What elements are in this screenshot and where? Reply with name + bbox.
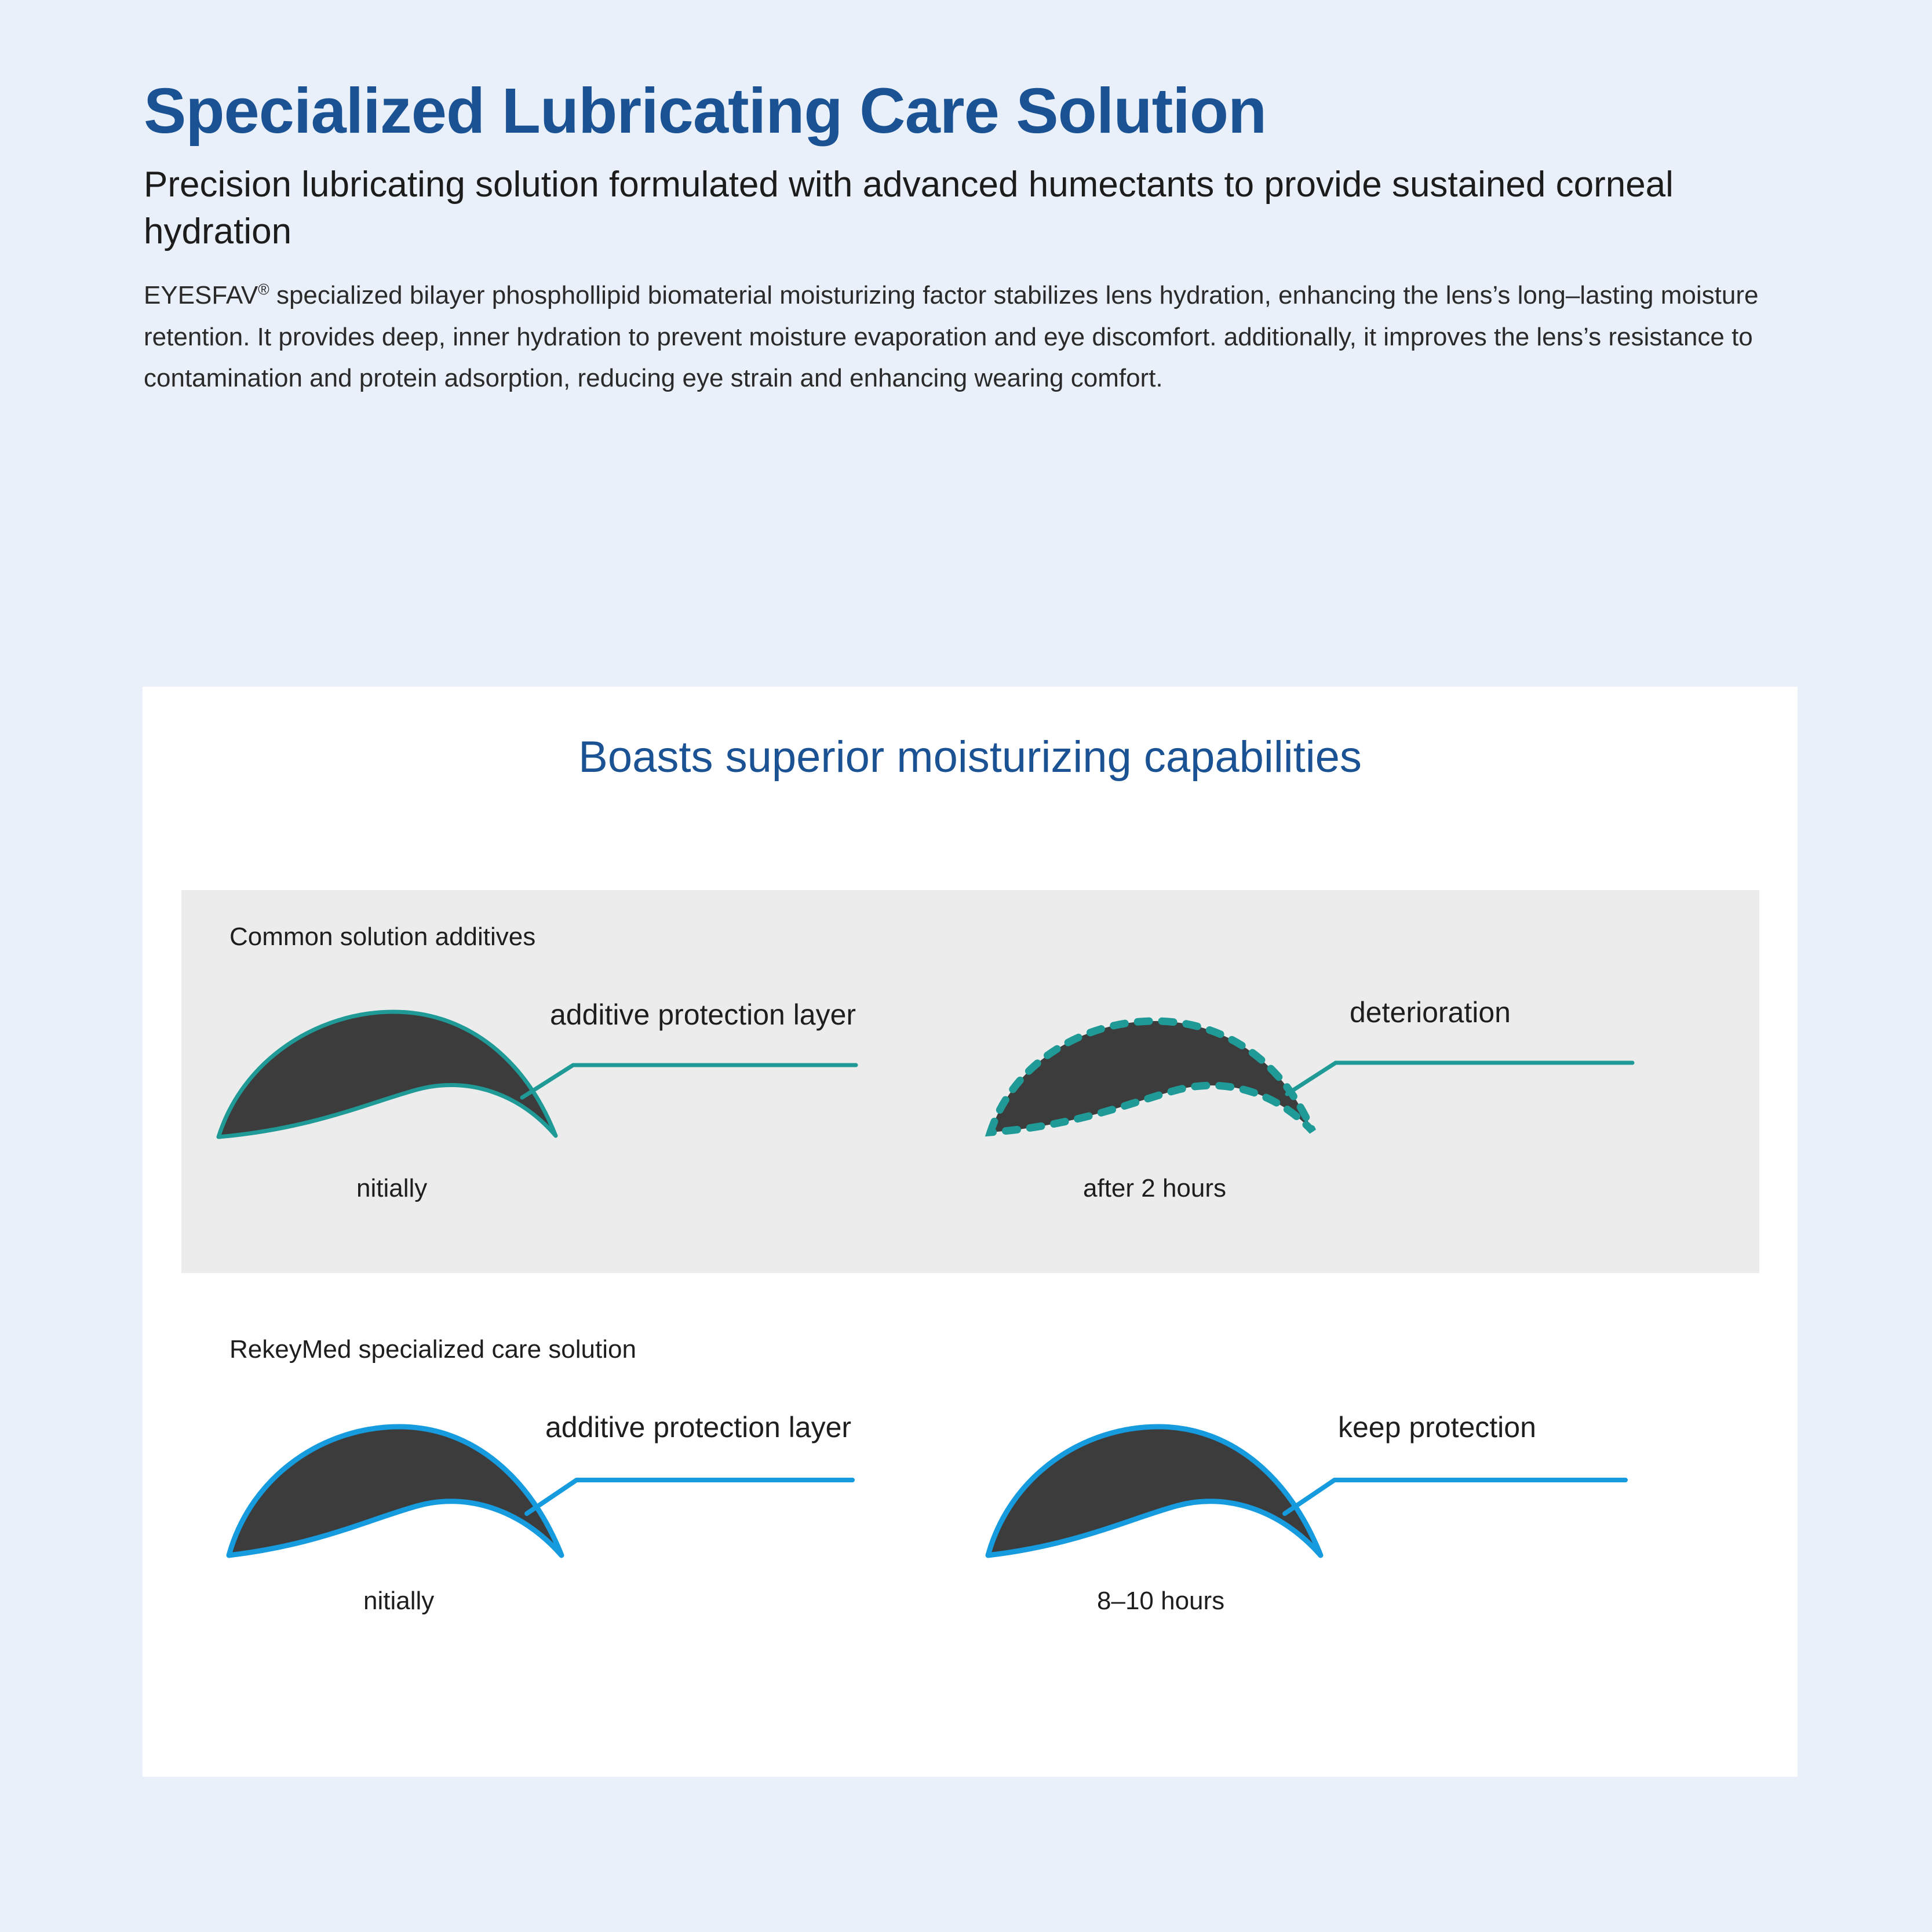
capabilities-card: Boasts superior moisturizing capabilitie…	[143, 687, 1798, 1777]
lens-row-rekeymed: additive protection layer nitially keep …	[181, 1400, 1759, 1672]
lens-cell-common-after-2-hours: deterioration after 2 hours	[967, 990, 1738, 1262]
card-title: Boasts superior moisturizing capabilitie…	[143, 732, 1798, 782]
lens-cell-rekeymed-initial: additive protection layer nitially	[202, 1400, 973, 1672]
lens-shape-icon	[229, 1427, 562, 1555]
leader-line-rekeymed-initial	[527, 1480, 852, 1514]
lens-cell-rekeymed-8-10-hours: keep protection 8–10 hours	[967, 1400, 1738, 1672]
leader-line-rekeymed-8-10-hours	[1285, 1480, 1625, 1514]
panel-rekeymed-care-solution: RekeyMed specialized care solution addit…	[181, 1325, 1759, 1707]
panel-label-rekeymed: RekeyMed specialized care solution	[229, 1335, 636, 1364]
annotation-rekeymed-8-10-hours: keep protection	[1338, 1410, 1536, 1444]
body-text: specialized bilayer phosphollipid biomat…	[144, 281, 1758, 392]
leader-line-common-after-2-hours	[1287, 1063, 1632, 1094]
annotation-rekeymed-initial: additive protection layer	[545, 1410, 851, 1444]
page-title: Specialized Lubricating Care Solution	[144, 75, 1807, 147]
caption-common-after-2-hours: after 2 hours	[1083, 1174, 1226, 1203]
registered-trademark-icon: ®	[258, 281, 269, 298]
lens-shape-icon	[990, 1021, 1313, 1132]
annotation-common-initial: additive protection layer	[550, 998, 856, 1031]
caption-rekeymed-initial: nitially	[363, 1587, 434, 1616]
leader-line-common-initial	[522, 1065, 856, 1098]
caption-rekeymed-8-10-hours: 8–10 hours	[1097, 1587, 1224, 1616]
lens-shape-icon	[988, 1427, 1321, 1555]
lens-shape-icon	[218, 1012, 556, 1137]
panel-label-common: Common solution additives	[229, 923, 535, 952]
annotation-common-after-2-hours: deterioration	[1350, 996, 1511, 1029]
header: Specialized Lubricating Care Solution Pr…	[144, 75, 1807, 399]
lens-cell-common-initial: additive protection layer nitially	[202, 990, 973, 1262]
page-subtitle: Precision lubricating solution formulate…	[144, 162, 1807, 255]
lens-row-common: additive protection layer nitially deter…	[181, 990, 1759, 1262]
brand-name: EYESFAV	[144, 281, 258, 309]
page-body-paragraph: EYESFAV® specialized bilayer phosphollip…	[144, 275, 1807, 399]
infographic-page: Specialized Lubricating Care Solution Pr…	[0, 0, 1932, 1932]
panel-common-solution-additives: Common solution additives additive prote…	[181, 890, 1759, 1273]
caption-common-initial: nitially	[356, 1174, 427, 1203]
